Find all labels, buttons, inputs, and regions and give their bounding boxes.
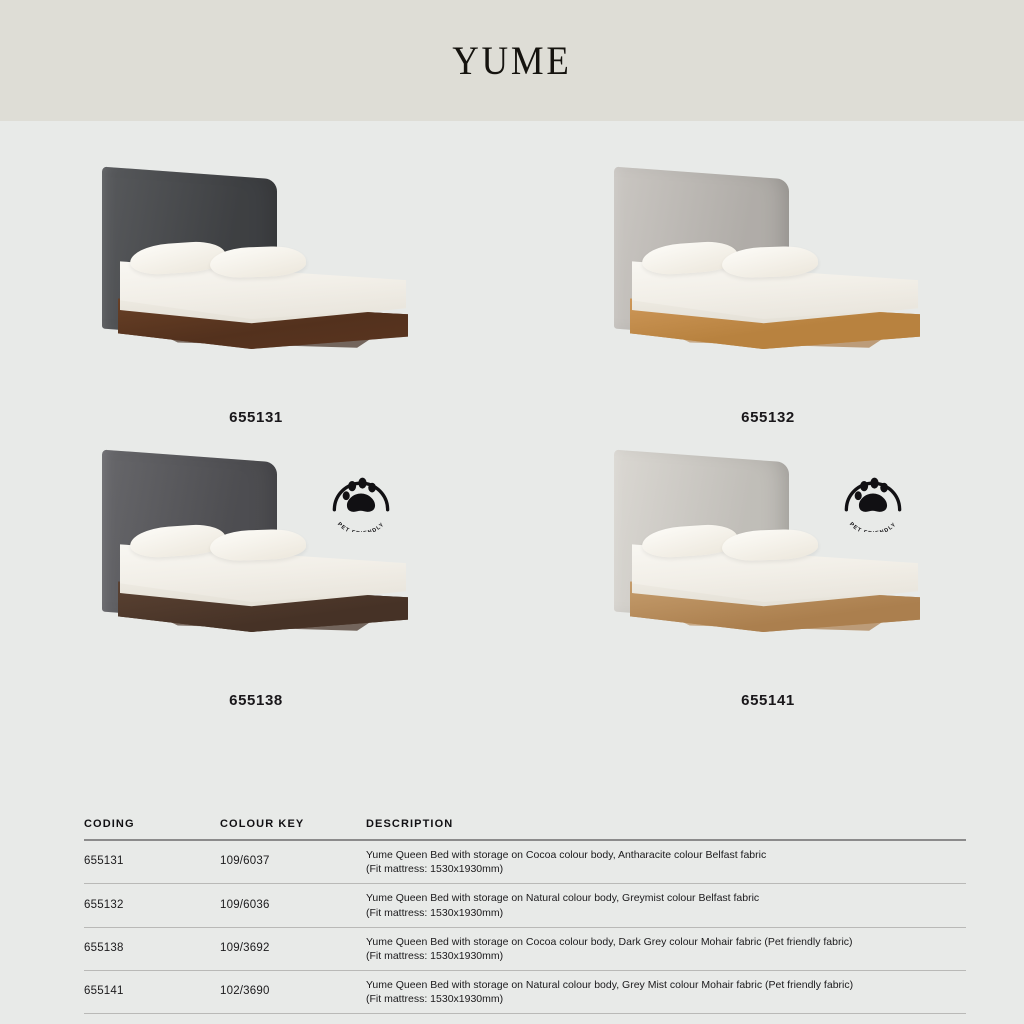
cell-coding: 655141 (84, 971, 220, 1014)
cell-colour-key: 102/3690 (220, 971, 366, 1014)
description-line-2: (Fit mattress: 1530x1930mm) (366, 906, 966, 920)
product-code-label: 655138 (0, 692, 512, 709)
bed-image-655132 (512, 161, 1024, 381)
svg-text:PET FRIENDLY: PET FRIENDLY (336, 521, 386, 532)
description-line-1: Yume Queen Bed with storage on Natural c… (366, 978, 966, 992)
table-row: 655132 109/6036 Yume Queen Bed with stor… (84, 884, 966, 927)
brand-header-band: YUME (0, 0, 1024, 121)
column-header-colour-key: COLOUR KEY (220, 818, 366, 840)
brand-logo: YUME (452, 41, 571, 81)
bed-image-655141: PET FRIENDLY (512, 444, 1024, 664)
cell-colour-key: 109/6036 (220, 884, 366, 927)
product-grid: 655131 655132 (0, 121, 1024, 771)
badge-label: PET FRIENDLY (336, 521, 386, 532)
paw-print-icon (855, 478, 888, 512)
badge-label: PET FRIENDLY (848, 521, 898, 532)
cell-colour-key: 109/6037 (220, 840, 366, 884)
table-row: 655141 102/3690 Yume Queen Bed with stor… (84, 971, 966, 1014)
pet-friendly-badge: PET FRIENDLY (836, 458, 910, 532)
cell-coding: 655131 (84, 840, 220, 884)
product-spec-table: CODING COLOUR KEY DESCRIPTION 655131 109… (84, 818, 966, 1014)
bed-illustration (600, 161, 950, 371)
description-line-2: (Fit mattress: 1530x1930mm) (366, 992, 966, 1006)
bed-image-655131 (0, 161, 512, 381)
cell-colour-key: 109/3692 (220, 927, 366, 970)
product-cell-655132[interactable]: 655132 (512, 121, 1024, 446)
description-line-1: Yume Queen Bed with storage on Cocoa col… (366, 848, 966, 862)
paw-print-icon (343, 478, 376, 512)
svg-text:PET FRIENDLY: PET FRIENDLY (848, 521, 898, 532)
description-line-1: Yume Queen Bed with storage on Natural c… (366, 891, 966, 905)
cell-coding: 655138 (84, 927, 220, 970)
table-row: 655131 109/6037 Yume Queen Bed with stor… (84, 840, 966, 884)
cell-description: Yume Queen Bed with storage on Cocoa col… (366, 927, 966, 970)
cell-description: Yume Queen Bed with storage on Natural c… (366, 971, 966, 1014)
cell-coding: 655132 (84, 884, 220, 927)
bed-image-655138: PET FRIENDLY (0, 444, 512, 664)
cell-description: Yume Queen Bed with storage on Natural c… (366, 884, 966, 927)
product-cell-655131[interactable]: 655131 (0, 121, 512, 446)
description-line-2: (Fit mattress: 1530x1930mm) (366, 949, 966, 963)
column-header-description: DESCRIPTION (366, 818, 966, 840)
pet-friendly-badge: PET FRIENDLY (324, 458, 398, 532)
bed-illustration (88, 161, 438, 371)
product-cell-655141[interactable]: PET FRIENDLY 655141 (512, 404, 1024, 729)
cell-description: Yume Queen Bed with storage on Cocoa col… (366, 840, 966, 884)
table-header-row: CODING COLOUR KEY DESCRIPTION (84, 818, 966, 840)
description-line-2: (Fit mattress: 1530x1930mm) (366, 862, 966, 876)
description-line-1: Yume Queen Bed with storage on Cocoa col… (366, 935, 966, 949)
product-cell-655138[interactable]: PET FRIENDLY 655138 (0, 404, 512, 729)
product-code-label: 655141 (512, 692, 1024, 709)
table-row: 655138 109/3692 Yume Queen Bed with stor… (84, 927, 966, 970)
column-header-coding: CODING (84, 818, 220, 840)
